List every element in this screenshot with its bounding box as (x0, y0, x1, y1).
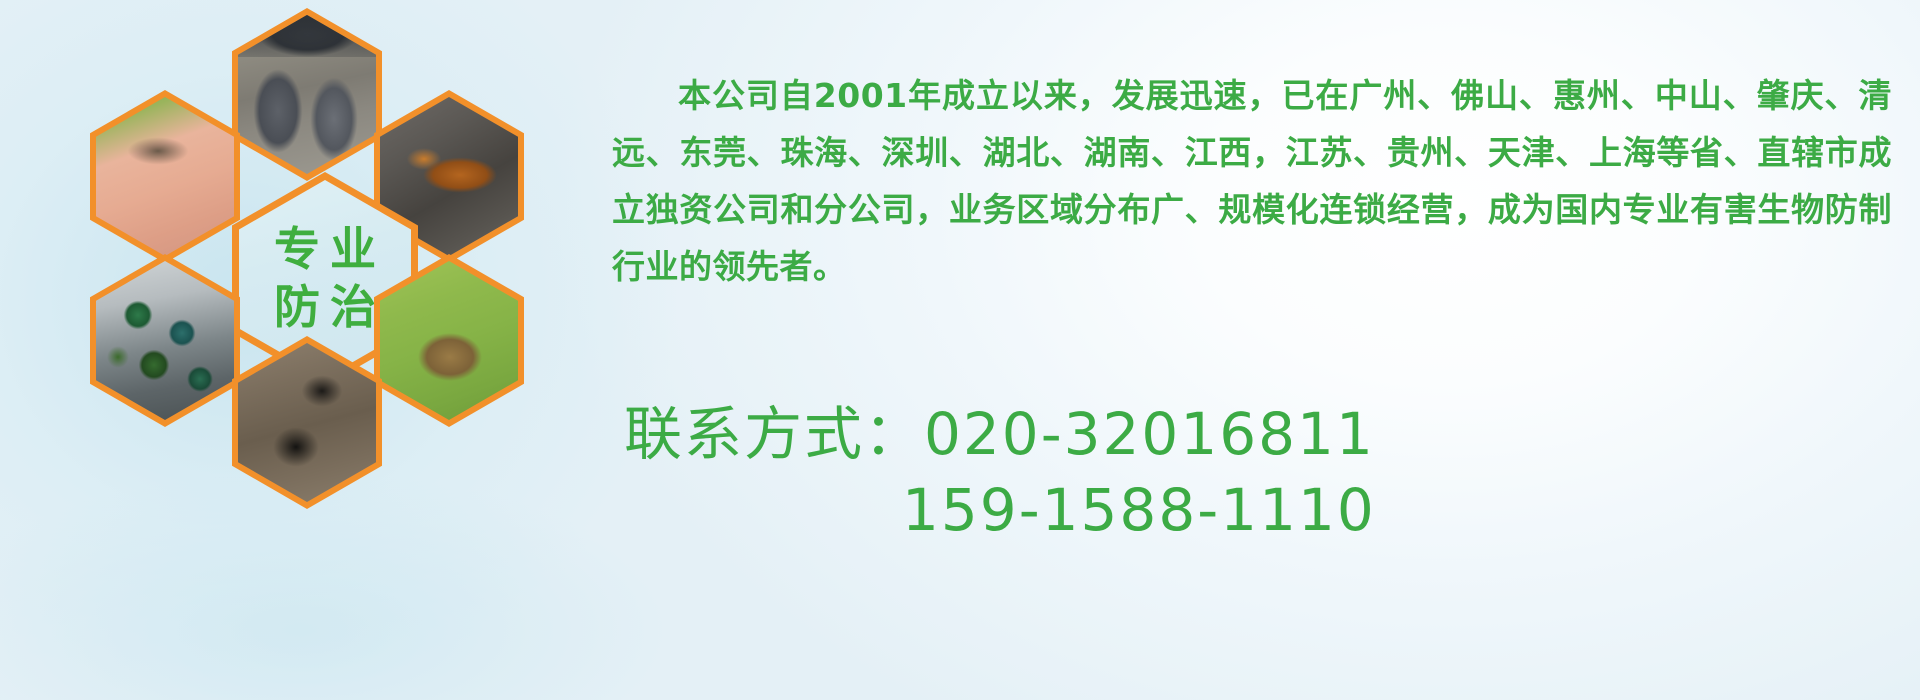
honeycomb-collage: 专业 防治 (84, 8, 604, 568)
center-slogan-line2: 防治 (264, 282, 386, 334)
company-intro-paragraph: 本公司自2001年成立以来，发展迅速，已在广州、佛山、惠州、中山、肇庆、清远、东… (612, 67, 1892, 295)
contact-block: 联系方式：020-32016811 159-1588-1110 (612, 396, 1912, 548)
center-slogan-line1: 专业 (264, 224, 386, 276)
contact-phone-secondary[interactable]: 159-1588-1110 (612, 472, 1912, 548)
ants-photo (238, 343, 376, 502)
hex-cell-mosquito[interactable] (90, 90, 240, 263)
stink-bug-photo (380, 261, 518, 420)
company-intro-block: 本公司自2001年成立以来，发展迅速，已在广州、佛山、惠州、中山、肇庆、清远、东… (612, 34, 1892, 328)
hex-inner-ants (238, 343, 376, 502)
pest-control-banner: 专业 防治 本公司自2001年成立以来，发展迅速，已在广州、佛山、惠州、中山、肇… (0, 0, 1920, 700)
hex-inner-stink-bug (380, 261, 518, 420)
flies-photo (96, 261, 234, 420)
hex-inner-mosquito (96, 97, 234, 256)
hex-inner-rats (238, 15, 376, 174)
hex-inner-flies (96, 261, 234, 420)
hex-cell-flies[interactable] (90, 254, 240, 427)
mosquito-photo (96, 97, 234, 256)
contact-phone-primary[interactable]: 联系方式：020-32016811 (612, 396, 1912, 472)
rats-photo (238, 15, 376, 174)
hex-cell-rats[interactable] (232, 8, 382, 181)
